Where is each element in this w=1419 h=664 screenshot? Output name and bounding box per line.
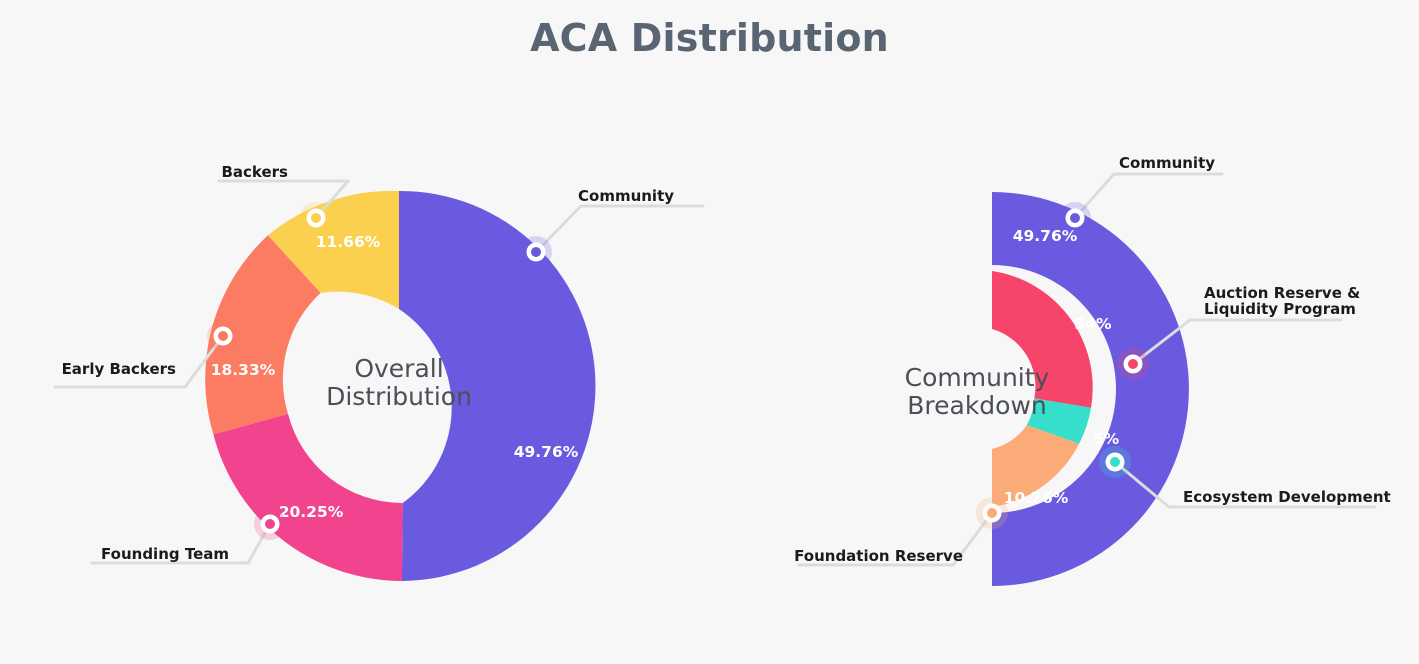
marker-dot-auction-reserve [1128,359,1138,369]
marker-dot-ecosystem-development [1110,457,1120,467]
callout-label-ecosystem-development: Ecosystem Development [1183,488,1391,506]
breakdown-pct-foundation-reserve: 10.76% [1004,489,1069,507]
leader-line-community-right [1075,174,1222,218]
breakdown-pct-ecosystem-development: 5% [1093,430,1120,448]
marker-dot-foundation-reserve [987,508,997,518]
community-breakdown-chart: Community Breakdown 49.76% 34% 5% 10.76%… [0,0,1419,664]
chart-canvas: ACA Distribution Overall Distribution 49… [0,0,1419,664]
breakdown-center-line1: Community [905,363,1050,392]
breakdown-center-line2: Breakdown [907,391,1047,420]
callout-label-foundation-reserve: Foundation Reserve [794,547,963,565]
breakdown-pct-auction-reserve: 34% [1074,315,1112,333]
callout-label-auction-reserve-line2: Liquidity Program [1204,300,1356,318]
callout-label-community-right: Community [1119,154,1215,172]
marker-dot-community-right [1070,213,1080,223]
